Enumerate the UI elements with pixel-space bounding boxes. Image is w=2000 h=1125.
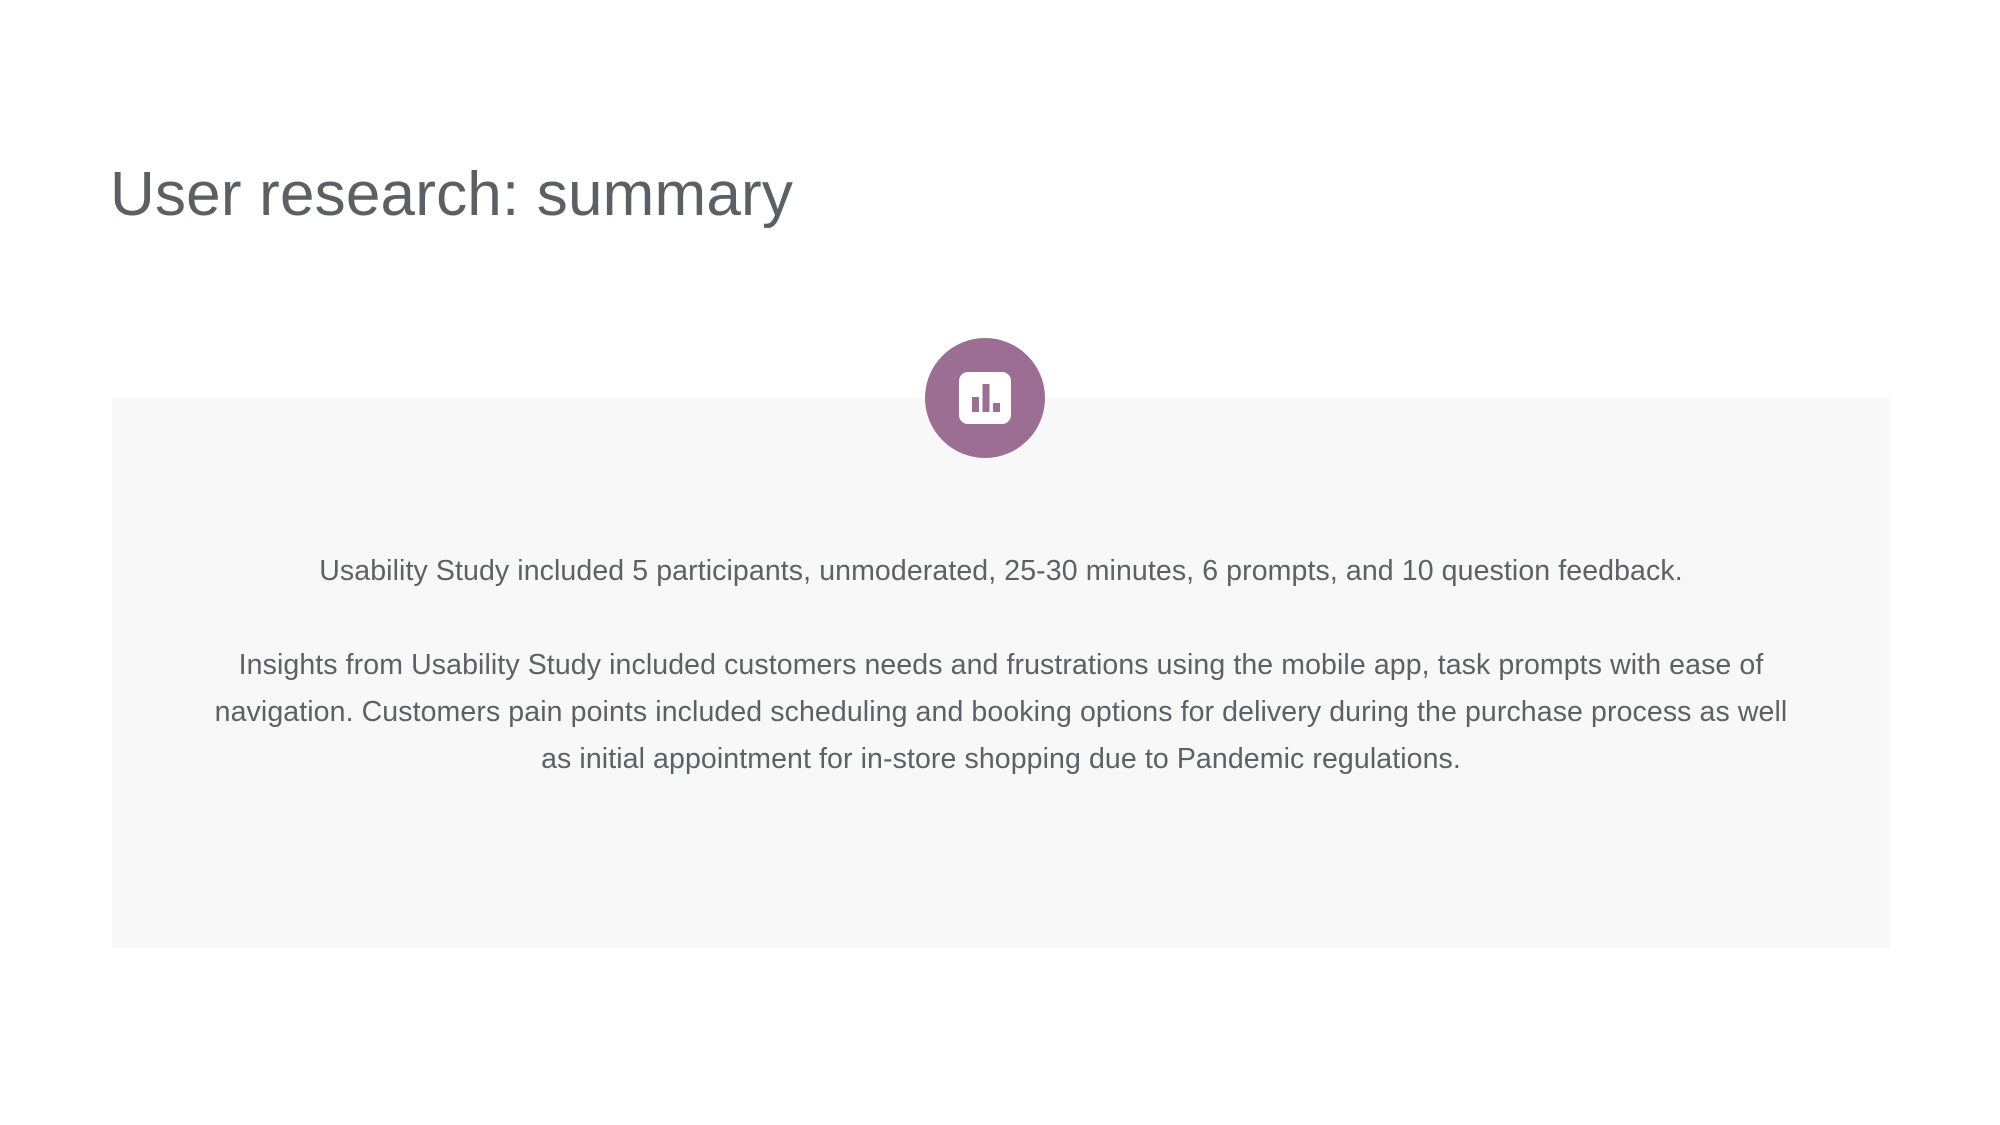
page-title: User research: summary <box>110 158 793 232</box>
bar-chart-badge <box>925 338 1045 458</box>
summary-paragraph-study-details: Usability Study included 5 participants,… <box>198 548 1804 595</box>
summary-paragraph-insights: Insights from Usability Study included c… <box>198 642 1804 783</box>
summary-text-block: Usability Study included 5 participants,… <box>198 548 1804 783</box>
summary-panel: Usability Study included 5 participants,… <box>112 398 1890 948</box>
slide-canvas: User research: summary Usability Study i… <box>0 0 2000 1125</box>
bar-chart-icon <box>959 372 1011 424</box>
